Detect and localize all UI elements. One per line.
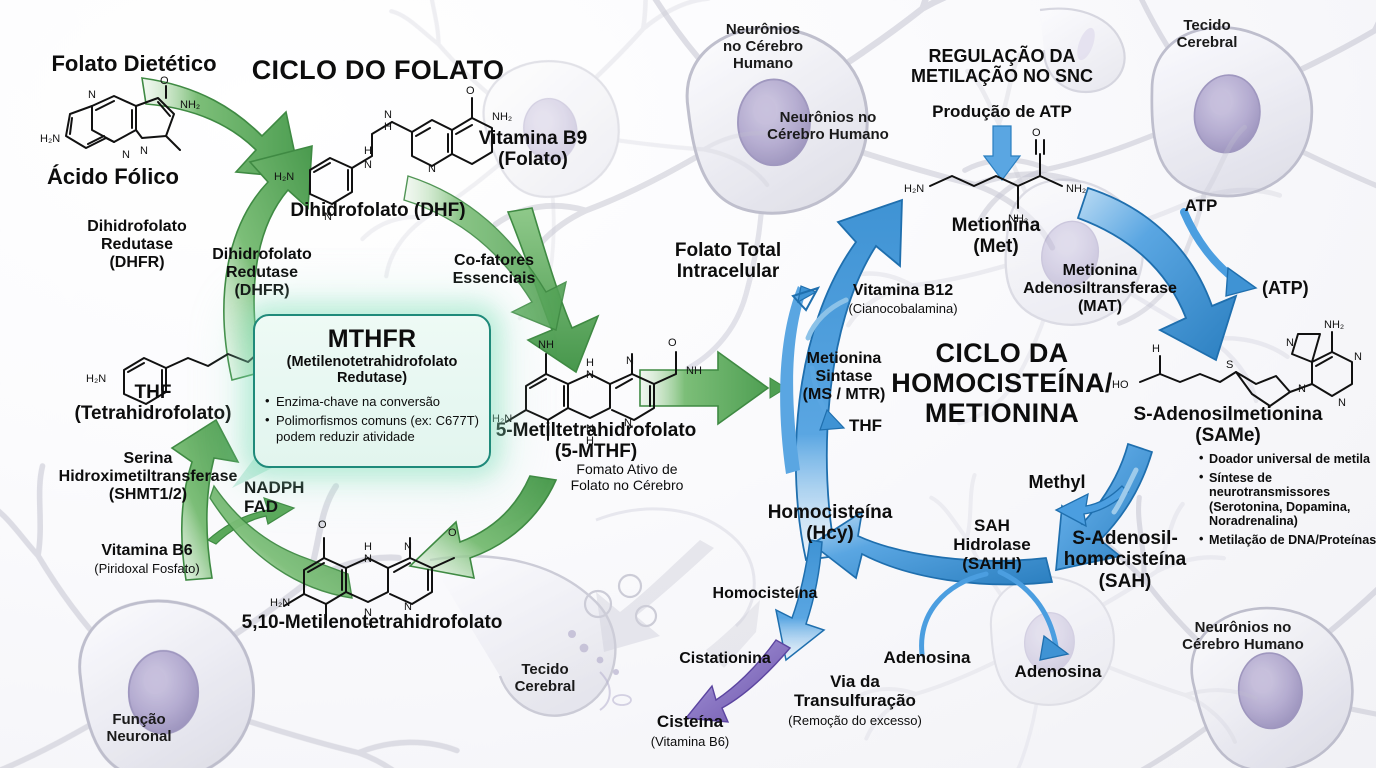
label-cystathionine: Cistationina	[679, 650, 771, 668]
svg-text:H: H	[1152, 343, 1160, 355]
mthfr-bullet-1: Enzima-chave na conversão	[265, 394, 479, 409]
label-nadph-fad: NADPHFAD	[244, 478, 304, 516]
label-shmt: SerinaHidroximetiltransferase(SHMT1/2)	[59, 450, 238, 504]
label-methyl: Methyl	[1028, 472, 1085, 492]
title-homocysteine-cycle: CICLO DAHOMOCISTEÍNA/METIONINA	[891, 338, 1112, 429]
header-methylation-cns: REGULAÇÃO DAMETILAÇÃO NO SNC	[911, 46, 1093, 86]
label-methionine-synthase: MetioninaSintase(MS / MTR)	[803, 350, 886, 404]
label-adenosine-in: Adenosina	[884, 648, 971, 667]
mthfr-bullet-2: Polimorfismos comuns (ex: C677T) podem r…	[265, 413, 479, 444]
svg-text:N: N	[140, 145, 148, 157]
label-5-mthf-note: Fomato Ativo deFolato no Cérebro	[571, 462, 684, 493]
svg-text:N: N	[1286, 337, 1294, 349]
svg-text:H₂N: H₂N	[904, 183, 924, 195]
svg-text:N: N	[586, 369, 594, 381]
svg-text:HO: HO	[1112, 379, 1129, 391]
label-transsulfuration: Via daTransulfuração(Remoção do excesso)	[788, 672, 922, 729]
label-methylene-thf: 5,10-Metilenotetrahidrofolato	[242, 612, 503, 633]
svg-text:N: N	[384, 109, 392, 121]
svg-text:N: N	[626, 355, 634, 367]
label-dietary-folate: Folato Dietético	[51, 52, 216, 77]
svg-text:N: N	[364, 159, 372, 171]
svg-text:H₂N: H₂N	[40, 133, 60, 145]
label-dhfr-1: DihidrofolatoRedutase(DHFR)	[87, 218, 187, 272]
svg-text:N: N	[88, 89, 96, 101]
same-bullet-1: Doador universal de metila	[1199, 452, 1376, 467]
label-sah: S-Adenosil-homocisteína(SAH)	[1064, 528, 1186, 592]
mthfr-callout-box: MTHFR (MetilenotetrahidrofolatoRedutase)…	[253, 314, 491, 468]
svg-text:O: O	[1032, 127, 1041, 139]
same-bullet-3: Metilação de DNA/Proteínas	[1199, 533, 1376, 548]
label-same: S-Adenosilmetionina(SAMe)	[1134, 404, 1323, 447]
label-vitamin-b9: Vitamina B9(Folato)	[479, 128, 587, 171]
svg-text:H₂N: H₂N	[274, 171, 294, 183]
mthfr-title: MTHFR	[265, 325, 479, 354]
svg-text:N: N	[364, 553, 372, 565]
label-vitamin-b6: Vitamina B6(Piridoxal Fosfato)	[94, 542, 199, 578]
same-bullet-2: Síntese de neurotransmissores (Serotonin…	[1199, 471, 1376, 529]
neuron-label-top-mid-1: Neurôniosno CérebroHumano	[723, 22, 803, 72]
svg-text:NH: NH	[686, 365, 702, 377]
svg-text:O: O	[466, 85, 475, 97]
svg-text:H: H	[384, 121, 392, 133]
svg-text:H: H	[364, 541, 372, 553]
chem-methionine: H₂N O NH₂ NH₂	[904, 127, 1086, 225]
label-thf: THF(Tetrahidrofolato)	[75, 382, 232, 425]
label-vitamin-b12: Vitamina B12(Cianocobalamina)	[848, 282, 957, 318]
diagram-canvas: H₂N O NH₂ N N N H₂N N H	[0, 0, 1376, 768]
svg-text:O: O	[668, 337, 677, 349]
label-atp-production: Produção de ATP	[932, 102, 1072, 121]
svg-text:O: O	[160, 75, 169, 87]
same-benefits-list: Doador universal de metila Síntese de ne…	[1199, 452, 1376, 552]
label-atp-in: ATP	[1185, 196, 1218, 215]
label-cofactors: Co-fatoresEssenciais	[453, 252, 536, 288]
svg-text:H: H	[364, 145, 372, 157]
label-sahh: SAHHidrolase(SAHH)	[953, 516, 1030, 573]
svg-text:NH₂: NH₂	[1324, 319, 1344, 331]
mthfr-subtitle: (MetilenotetrahidrofolatoRedutase)	[265, 355, 479, 387]
svg-text:O: O	[318, 519, 327, 531]
label-folic-acid: Ácido Fólico	[47, 165, 179, 190]
label-cysteine: Cisteína(Vitamina B6)	[651, 712, 730, 750]
title-folate-cycle: CICLO DO FOLATO	[252, 55, 504, 85]
label-thf-out: THF	[849, 416, 882, 435]
neuron-label-bottom-left: FunçãoNeuronal	[106, 712, 171, 746]
chem-same: HO H S N N NH₂ N N	[1112, 319, 1362, 409]
svg-text:N: N	[1298, 383, 1306, 395]
svg-text:NH₂: NH₂	[492, 111, 512, 123]
svg-text:N: N	[1338, 397, 1346, 409]
svg-text:N: N	[404, 541, 412, 553]
chem-folic-acid: H₂N O NH₂ N N N	[40, 75, 200, 161]
neuron-label-top-right: TecidoCerebral	[1177, 18, 1238, 52]
label-methionine: Metionina(Met)	[952, 215, 1041, 258]
neuron-label-bottom-mid: TecidoCerebral	[515, 662, 576, 696]
svg-text:NH₂: NH₂	[1066, 183, 1086, 195]
label-dhfr-2: DihidrofolatoRedutase(DHFR)	[212, 246, 312, 300]
label-homocysteine: Homocisteína(Hcy)	[768, 502, 893, 545]
svg-text:NH: NH	[538, 339, 554, 351]
svg-text:S: S	[1226, 359, 1233, 371]
label-atp-out: (ATP)	[1262, 278, 1309, 298]
neuron-label-bottom-right: Neurônios noCérebro Humano	[1182, 620, 1304, 654]
neuron-label-top-mid-2: Neurônios noCérebro Humano	[767, 110, 889, 144]
svg-text:N: N	[428, 163, 436, 175]
svg-text:H: H	[586, 357, 594, 369]
svg-text:O: O	[448, 527, 457, 539]
label-5-mthf: 5-Metiltetrahidrofolato(5-MTHF)	[496, 420, 697, 463]
svg-text:NH₂: NH₂	[180, 99, 200, 111]
label-dihydrofolate: Dihidrofolato (DHF)	[290, 200, 465, 221]
svg-text:N: N	[1354, 351, 1362, 363]
label-total-folate: Folato TotalIntracelular	[675, 240, 781, 283]
label-homocysteine-flux: Homocisteína	[713, 585, 818, 603]
svg-text:H₂N: H₂N	[270, 597, 290, 609]
label-adenosine-out: Adenosina	[1015, 662, 1102, 681]
mthfr-bullets: Enzima-chave na conversão Polimorfismos …	[265, 394, 479, 444]
label-mat: MetioninaAdenosiltransferase(MAT)	[1023, 262, 1177, 316]
svg-text:N: N	[122, 149, 130, 161]
